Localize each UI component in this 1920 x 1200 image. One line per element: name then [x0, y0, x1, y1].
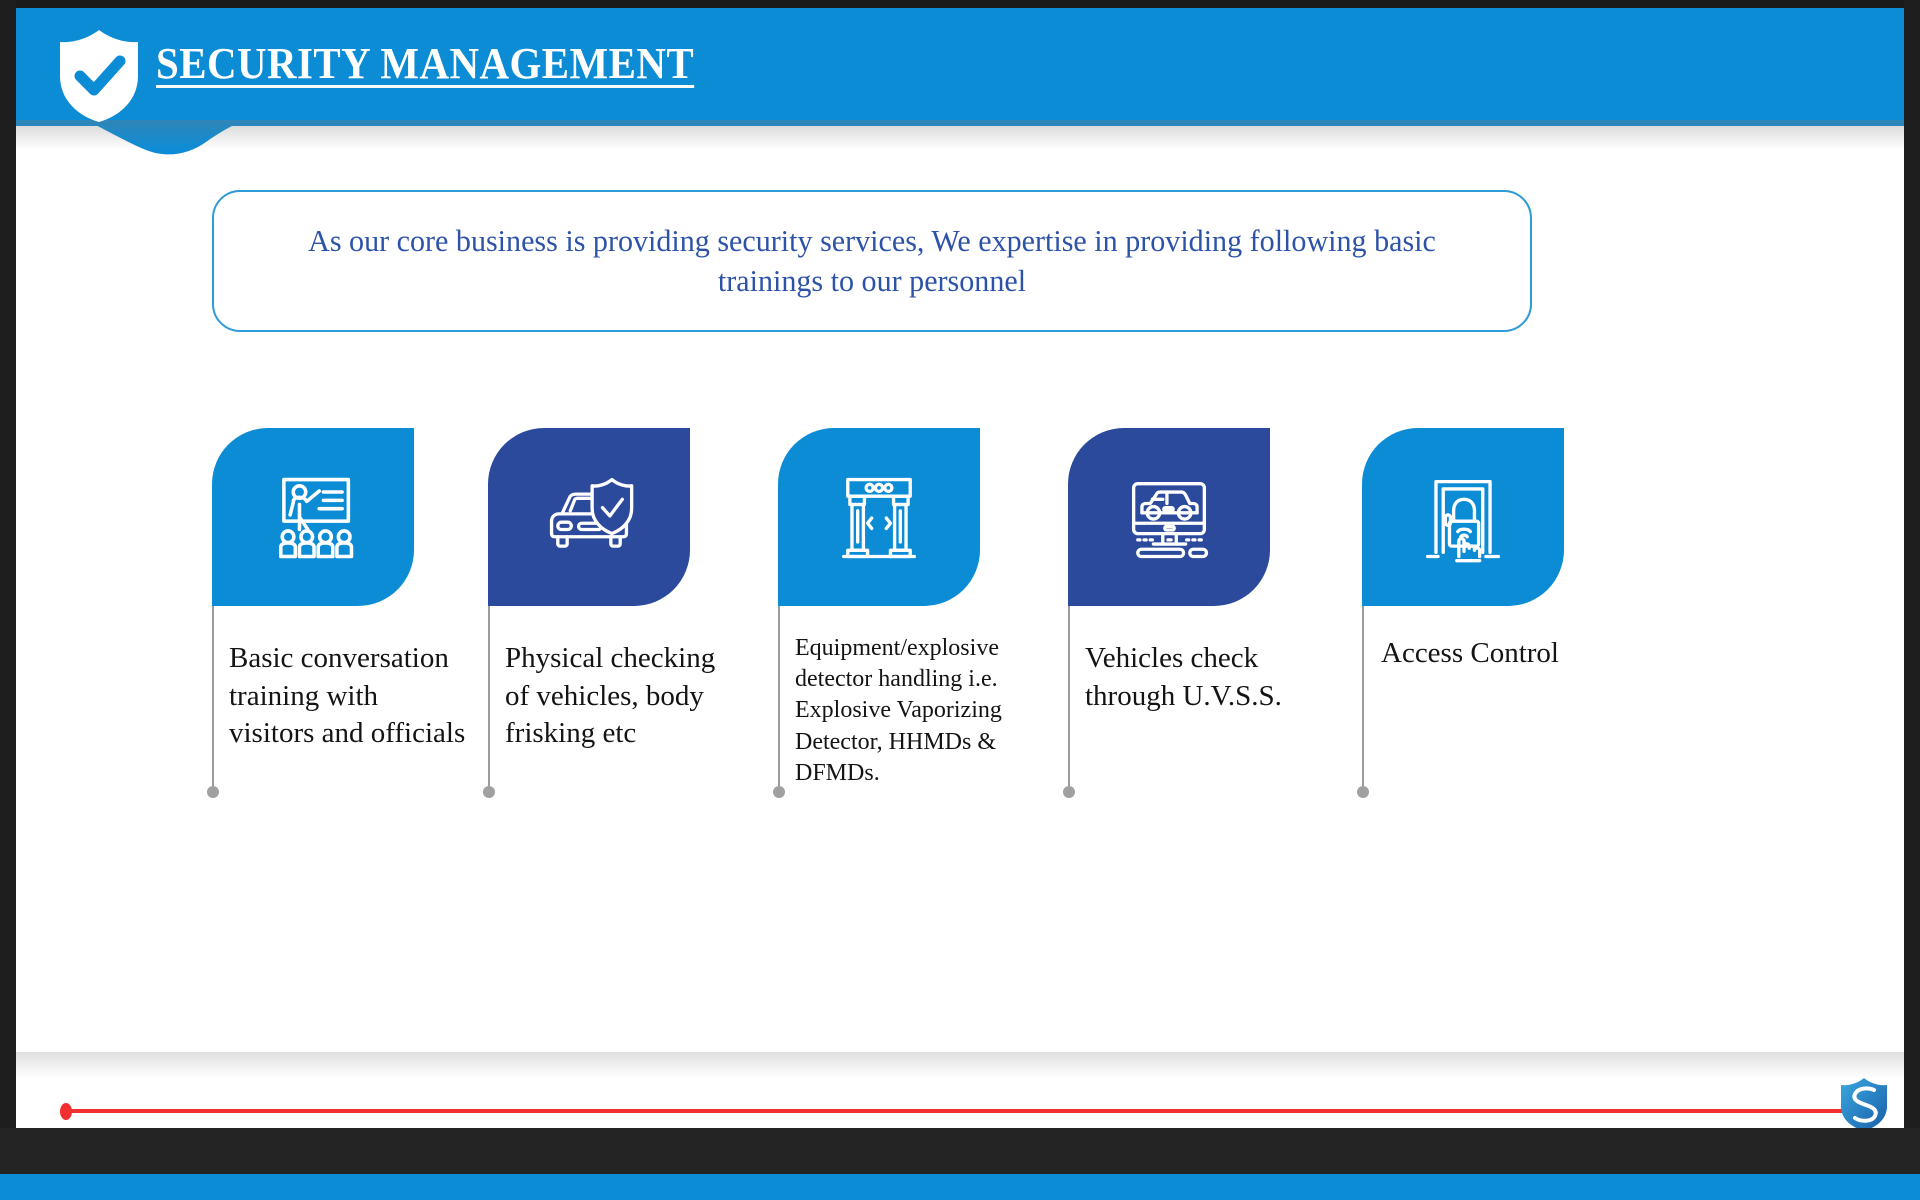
- training-card-2[interactable]: Physical checking of vehicles, body fris…: [488, 428, 698, 606]
- vehicle-scanner-monitor-icon: [1117, 465, 1221, 569]
- shield-s-logo-icon: [1838, 1076, 1890, 1128]
- card-caption-3: Equipment/explosive detector handling i.…: [795, 633, 1080, 789]
- card-tile-2[interactable]: [488, 428, 690, 606]
- training-card-3[interactable]: Equipment/explosive detector handling i.…: [778, 428, 988, 606]
- footer-drop-shadow: [16, 1052, 1904, 1078]
- card-tile-1[interactable]: [212, 428, 414, 606]
- bottom-blue-strip: [0, 1174, 1920, 1200]
- frame-right-edge: [1904, 0, 1920, 1200]
- page-title: SECURITY MANAGEMENT: [156, 38, 694, 89]
- card-tile-5[interactable]: [1362, 428, 1564, 606]
- card-caption-2: Physical checking of vehicles, body fris…: [505, 640, 720, 753]
- shield-check-icon: [56, 28, 142, 124]
- training-card-4[interactable]: Vehicles check through U.V.S.S.: [1068, 428, 1278, 606]
- card-connector-dot-4: [1063, 786, 1075, 798]
- card-connector-dot-1: [207, 786, 219, 798]
- card-connector-dot-5: [1357, 786, 1369, 798]
- card-tile-3[interactable]: [778, 428, 980, 606]
- frame-bottom-edge: [0, 1128, 1920, 1174]
- card-connector-dot-2: [483, 786, 495, 798]
- presentation-trainer-icon: [261, 465, 365, 569]
- card-caption-4: Vehicles check through U.V.S.S.: [1085, 640, 1320, 715]
- training-card-5[interactable]: Access Control: [1362, 428, 1572, 606]
- card-connector-line-4: [1068, 606, 1070, 786]
- card-connector-line-5: [1362, 606, 1364, 786]
- car-shield-check-icon: [537, 465, 641, 569]
- card-connector-line-2: [488, 606, 490, 786]
- card-caption-1: Basic conversation training with visitor…: [229, 640, 469, 753]
- card-connector-line-3: [778, 606, 780, 786]
- frame-left-edge: [0, 0, 16, 1200]
- door-lock-hand-icon: [1411, 465, 1515, 569]
- training-card-1[interactable]: Basic conversation training with visitor…: [212, 428, 422, 606]
- slide-canvas: SECURITY MANAGEMENT As our core business…: [16, 8, 1904, 1128]
- card-connector-dot-3: [773, 786, 785, 798]
- walkthrough-metal-detector-icon: [827, 465, 931, 569]
- card-caption-5: Access Control: [1381, 635, 1631, 673]
- footer-red-line: [66, 1109, 1856, 1113]
- card-tile-4[interactable]: [1068, 428, 1270, 606]
- frame-top-edge: [0, 0, 1920, 8]
- slide-root: SECURITY MANAGEMENT As our core business…: [0, 0, 1920, 1200]
- training-cards-row: Basic conversation training with visitor…: [16, 8, 1904, 1128]
- card-connector-line-1: [212, 606, 214, 786]
